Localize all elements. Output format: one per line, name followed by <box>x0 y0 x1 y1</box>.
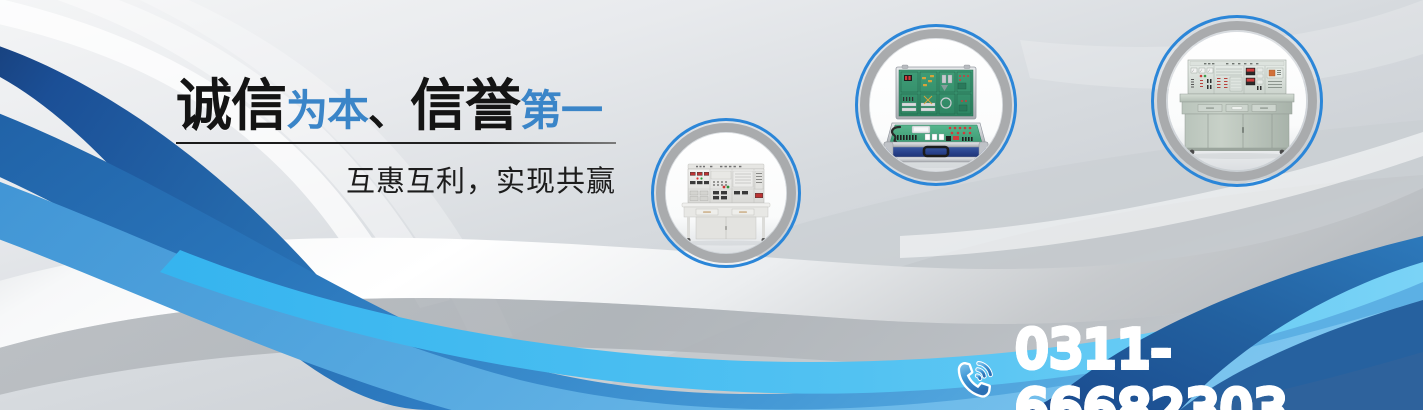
slogan-subtitle: 互惠互利，实现共赢 <box>176 158 616 200</box>
slogan-divider <box>176 142 616 144</box>
headline-part-4: 第一 <box>520 90 602 134</box>
product-circle-1[interactable] <box>651 118 801 268</box>
headline-separator: 、 <box>368 90 410 134</box>
promotional-banner: 诚信 为本 、 信誉 第一 互惠互利，实现共赢 <box>0 0 1423 410</box>
slogan-block: 诚信 为本 、 信誉 第一 互惠互利，实现共赢 <box>176 72 626 200</box>
product-image-2 <box>870 39 1002 171</box>
product-image-3 <box>1168 32 1306 170</box>
phone-number-wrap: 0311-66682303 0311-66682303 <box>1015 320 1423 410</box>
headline: 诚信 为本 、 信誉 第一 <box>176 72 626 134</box>
product-circle-3[interactable] <box>1151 15 1323 187</box>
phone-number[interactable]: 0311-66682303 <box>1015 320 1288 410</box>
headline-part-1: 诚信 <box>176 78 286 134</box>
product-circle-2[interactable] <box>855 24 1017 186</box>
phone-call-icon <box>952 354 1001 406</box>
headline-part-2: 为本 <box>286 90 368 134</box>
headline-part-3: 信誉 <box>410 78 520 134</box>
contact-phone[interactable]: 0311-66682303 0311-66682303 <box>952 320 1423 410</box>
product-image-1 <box>666 133 786 253</box>
